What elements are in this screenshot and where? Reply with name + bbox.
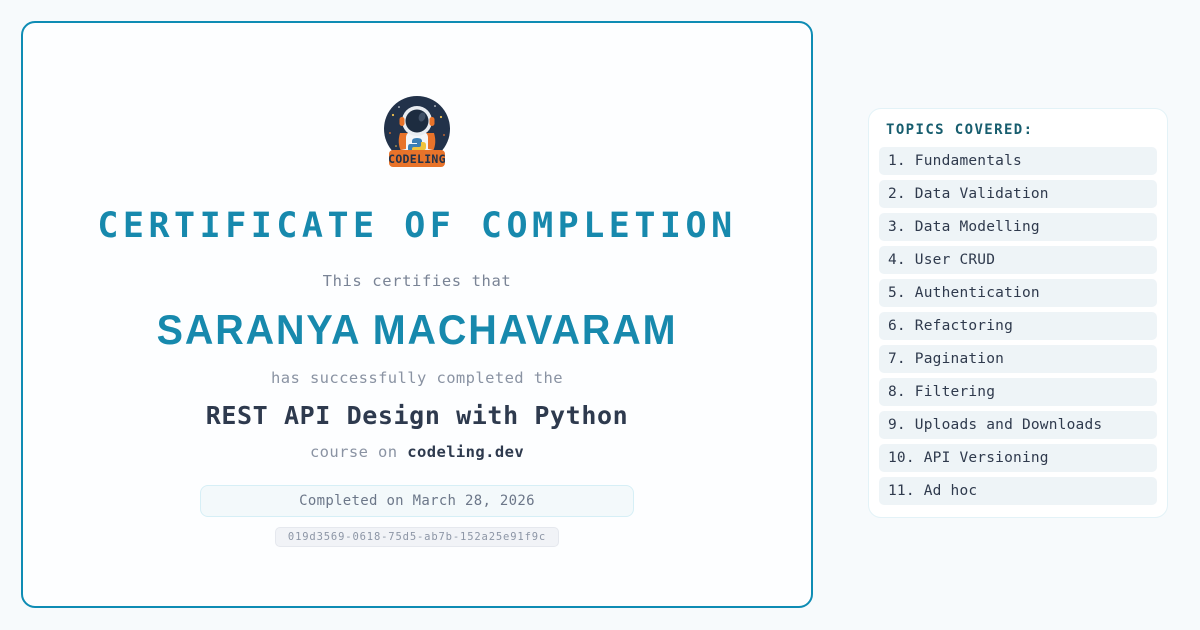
- certifies-line: This certifies that: [323, 274, 512, 290]
- course-provider-line: course on codeling.dev: [310, 445, 524, 461]
- list-item[interactable]: 1. Fundamentals: [879, 147, 1157, 175]
- list-item[interactable]: 10. API Versioning: [879, 444, 1157, 472]
- list-item[interactable]: 4. User CRUD: [879, 246, 1157, 274]
- list-item[interactable]: 9. Uploads and Downloads: [879, 411, 1157, 439]
- completion-date-box: Completed on March 28, 2026: [200, 485, 634, 517]
- topics-panel-header: TOPICS COVERED:: [879, 123, 1157, 137]
- course-title: REST API Design with Python: [206, 403, 629, 428]
- list-item[interactable]: 8. Filtering: [879, 378, 1157, 406]
- certificate-id-badge[interactable]: 019d3569-0618-75d5-ab7b-152a25e91f9c: [275, 527, 559, 547]
- codeling-astronaut-logo: CODELING: [378, 93, 456, 171]
- certificate-page: CODELING CERTIFICATE OF COMPLETION This …: [0, 0, 1200, 630]
- list-item[interactable]: 5. Authentication: [879, 279, 1157, 307]
- list-item[interactable]: 7. Pagination: [879, 345, 1157, 373]
- list-item[interactable]: 2. Data Validation: [879, 180, 1157, 208]
- recipient-name: SARANYA MACHAVARAM: [157, 309, 678, 351]
- completed-line: has successfully completed the: [271, 371, 563, 387]
- codeling-brand-link[interactable]: codeling.dev: [407, 443, 524, 461]
- topic-list: 1. Fundamentals 2. Data Validation 3. Da…: [879, 147, 1157, 505]
- svg-text:CODELING: CODELING: [388, 152, 446, 166]
- topics-covered-panel: TOPICS COVERED: 1. Fundamentals 2. Data …: [868, 108, 1168, 518]
- list-item[interactable]: 3. Data Modelling: [879, 213, 1157, 241]
- course-on-prefix: course on: [310, 443, 407, 461]
- certificate-card: CODELING CERTIFICATE OF COMPLETION This …: [21, 21, 813, 608]
- list-item[interactable]: 11. Ad hoc: [879, 477, 1157, 505]
- list-item[interactable]: 6. Refactoring: [879, 312, 1157, 340]
- certificate-title: CERTIFICATE OF COMPLETION: [97, 209, 736, 244]
